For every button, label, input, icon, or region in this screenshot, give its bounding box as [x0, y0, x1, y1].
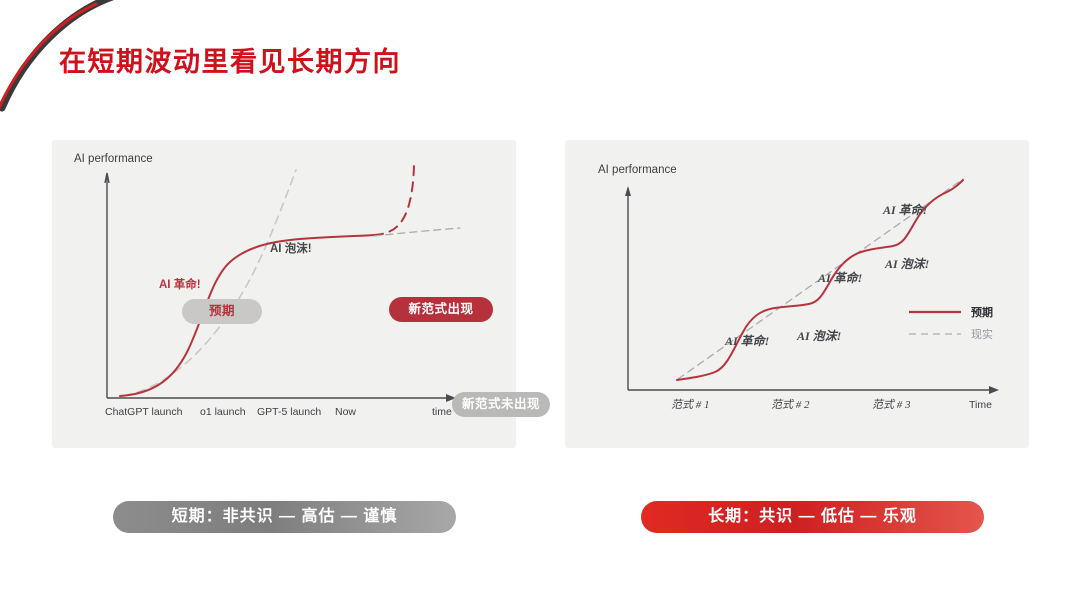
left-x-tick-3: Now	[335, 406, 356, 418]
left-annotation-bubble: AI 泡沫!	[270, 241, 312, 255]
right-chart-axes	[625, 186, 999, 394]
caption-short-term[interactable]: 短期：非共识 — 高估 — 谨慎	[113, 501, 456, 533]
right-x-tick-2: 范式 # 3	[872, 398, 911, 411]
badge-expectation[interactable]: 预期	[182, 299, 262, 324]
left-chart-panel: AI performance AI 革命! AI 泡沫! ChatGPT lau…	[52, 140, 516, 448]
right-x-tick-0: 范式 # 1	[671, 398, 710, 411]
right-annotation-3: AI 革命!	[817, 271, 862, 285]
right-annotation-1: AI 革命!	[724, 334, 769, 348]
right-x-axis-label: Time	[969, 399, 992, 411]
left-annotation-revolution: AI 革命!	[159, 277, 201, 291]
right-chart-svg: AI 革命! AI 泡沫! AI 革命! AI 泡沫! AI 革命! AI pe…	[565, 140, 1029, 448]
x-axis-arrow	[989, 386, 999, 394]
right-annotation-2: AI 泡沫!	[796, 329, 841, 343]
left-chart-axes	[105, 173, 456, 402]
legend-label-reality: 现实	[971, 327, 993, 341]
right-chart-legend: 预期 现实	[909, 305, 993, 341]
left-y-axis-label: AI performance	[74, 153, 153, 165]
left-x-tick-2: GPT-5 launch	[257, 406, 321, 418]
badge-no-new-paradigm[interactable]: 新范式未出现	[452, 392, 550, 417]
left-reality-dashed-curve	[124, 170, 296, 396]
caption-long-term[interactable]: 长期：共识 — 低估 — 乐观	[641, 501, 984, 533]
right-annotation-4: AI 泡沫!	[884, 257, 929, 271]
right-chart-panel: AI 革命! AI 泡沫! AI 革命! AI 泡沫! AI 革命! AI pe…	[565, 140, 1029, 448]
legend-label-expectation: 预期	[971, 305, 993, 319]
y-axis-arrow	[625, 186, 631, 196]
left-new-paradigm-dashed-curve	[374, 160, 414, 235]
left-x-tick-0: ChatGPT launch	[105, 406, 183, 418]
left-x-tick-1: o1 launch	[200, 406, 246, 418]
badge-new-paradigm[interactable]: 新范式出现	[389, 297, 493, 322]
right-x-tick-1: 范式 # 2	[771, 398, 810, 411]
right-y-axis-label: AI performance	[598, 164, 677, 176]
page-title: 在短期波动里看见长期方向	[59, 40, 401, 79]
left-chart-svg: AI performance AI 革命! AI 泡沫! ChatGPT lau…	[52, 140, 516, 448]
right-annotation-5: AI 革命!	[882, 203, 927, 217]
left-x-axis-label: time	[432, 406, 452, 418]
left-no-new-paradigm-dashed-curve	[374, 228, 460, 236]
